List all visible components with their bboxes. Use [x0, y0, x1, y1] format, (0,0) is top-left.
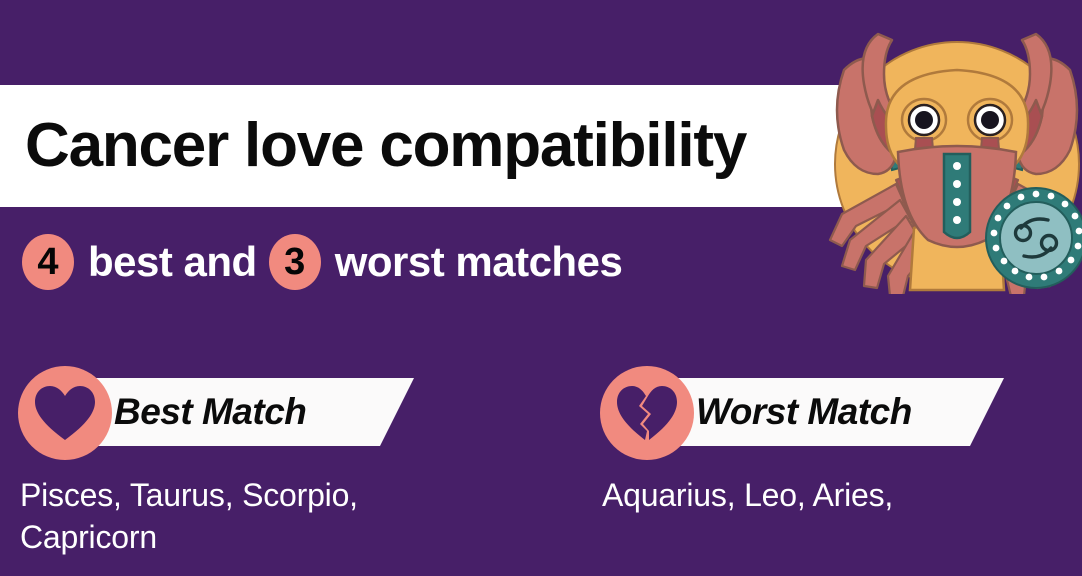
best-match-label: Best Match [114, 378, 306, 446]
cancer-compatibility-infographic: Cancer love compatibility 4 best and 3 w… [0, 0, 1082, 576]
worst-match-section: Worst Match Aquarius, Leo, Aries, [600, 366, 1070, 462]
subtitle-row: 4 best and 3 worst matches [22, 232, 622, 292]
best-count-badge: 4 [22, 234, 74, 290]
worst-match-ribbon: Worst Match [600, 366, 1070, 462]
zodiac-medallion [986, 188, 1082, 288]
best-match-section: Best Match Pisces, Taurus, Scorpio, Capr… [18, 366, 578, 462]
broken-heart-icon [600, 366, 694, 460]
page-title: Cancer love compatibility [25, 85, 835, 207]
cancer-crab-illustration [826, 14, 1082, 294]
worst-count-badge: 3 [269, 234, 321, 290]
heart-icon [18, 366, 112, 460]
best-match-signs: Pisces, Taurus, Scorpio, Capricorn [20, 474, 450, 558]
subtitle-best-text: best and [74, 241, 269, 283]
worst-match-signs: Aquarius, Leo, Aries, [602, 474, 1052, 516]
best-match-ribbon: Best Match [18, 366, 578, 462]
subtitle-worst-text: worst matches [321, 241, 623, 283]
worst-match-label: Worst Match [696, 378, 912, 446]
